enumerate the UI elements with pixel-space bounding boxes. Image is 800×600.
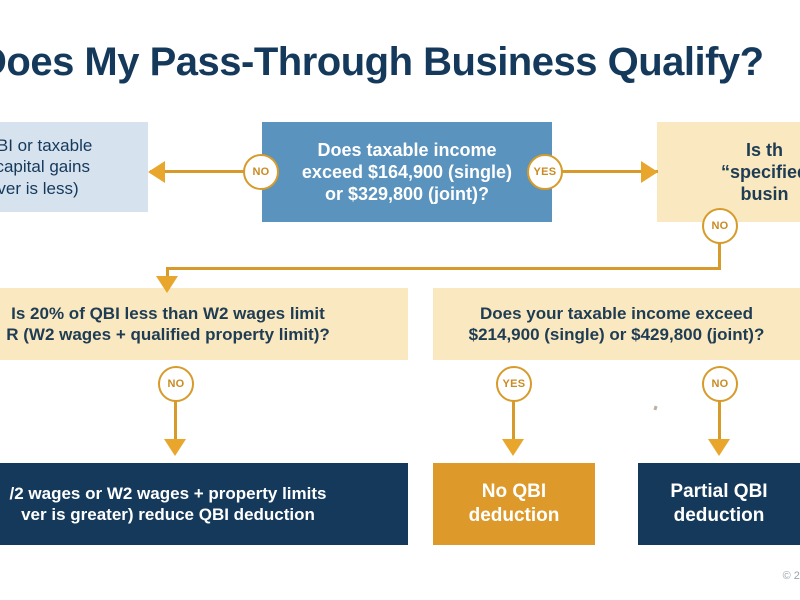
- arrow-right-icon: [641, 161, 658, 183]
- node-wage-limit-line-2: R (W2 wages + qualified property limit)?: [0, 324, 340, 345]
- node-qbi-calculation-line-2: f capital gains: [0, 156, 102, 177]
- node-reduce-deduction-line-1: /2 wages or W2 wages + property limits: [0, 483, 336, 504]
- arrow-down-icon: [708, 439, 730, 456]
- node-income-threshold-question: Does taxable income exceed $164,900 (sin…: [262, 122, 552, 222]
- connector-phaseout-no: [718, 400, 721, 442]
- node-qbi-calculation-line-3: ver is less): [0, 178, 102, 199]
- connector-specified-service-no-horizontal: [166, 267, 721, 270]
- node-no-deduction-result: No QBI deduction: [433, 463, 595, 545]
- node-wage-limit-question: Is 20% of QBI less than W2 wages limit R…: [0, 288, 408, 360]
- arrow-left-icon: [148, 161, 165, 183]
- node-partial-deduction-line-1: Partial QBI: [660, 480, 777, 504]
- copyright-notice: © 20: [783, 570, 800, 582]
- node-phaseout-line-1: Does your taxable income exceed: [459, 303, 775, 324]
- flowchart-canvas: Does My Pass-Through Business Qualify? Q…: [0, 0, 800, 600]
- node-income-threshold-line-3: or $329,800 (joint)?: [292, 183, 522, 205]
- badge-yes-income-threshold: YES: [527, 154, 563, 190]
- connector-phaseout-yes: [512, 400, 515, 442]
- node-specified-service-line-3: busin: [711, 183, 800, 205]
- node-phaseout-threshold-question: Does your taxable income exceed $214,900…: [433, 288, 800, 360]
- node-partial-deduction-line-2: deduction: [660, 504, 777, 528]
- badge-no-income-threshold: NO: [243, 154, 279, 190]
- node-qbi-calculation-line-1: QBI or taxable: [0, 135, 102, 156]
- node-no-deduction-line-1: No QBI: [459, 480, 570, 504]
- badge-no-wage-limit: NO: [158, 366, 194, 402]
- node-specified-service-line-1: Is th: [711, 139, 800, 161]
- arrow-down-icon: [164, 439, 186, 456]
- node-income-threshold-line-2: exceed $164,900 (single): [292, 161, 522, 183]
- badge-no-specified-service: NO: [702, 208, 738, 244]
- node-qbi-calculation: QBI or taxable f capital gains ver is le…: [0, 122, 148, 212]
- artifact-speck: [653, 406, 657, 411]
- node-partial-deduction-result: Partial QBI deduction: [638, 463, 800, 545]
- node-no-deduction-line-2: deduction: [459, 504, 570, 528]
- node-specified-service-question: Is th “specified busin: [657, 122, 800, 222]
- node-income-threshold-line-1: Does taxable income: [292, 139, 522, 161]
- badge-no-phaseout: NO: [702, 366, 738, 402]
- arrow-down-icon: [156, 276, 178, 293]
- connector-specified-service-no-vertical: [718, 240, 721, 270]
- connector-wage-limit-no: [174, 400, 177, 442]
- node-reduce-deduction-line-2: ver is greater) reduce QBI deduction: [0, 504, 336, 525]
- node-phaseout-line-2: $214,900 (single) or $429,800 (joint)?: [459, 324, 775, 345]
- arrow-down-icon: [502, 439, 524, 456]
- node-specified-service-line-2: “specified: [711, 161, 800, 183]
- node-reduce-deduction-result: /2 wages or W2 wages + property limits v…: [0, 463, 408, 545]
- node-wage-limit-line-1: Is 20% of QBI less than W2 wages limit: [0, 303, 340, 324]
- badge-yes-phaseout: YES: [496, 366, 532, 402]
- page-title: Does My Pass-Through Business Qualify?: [0, 40, 800, 85]
